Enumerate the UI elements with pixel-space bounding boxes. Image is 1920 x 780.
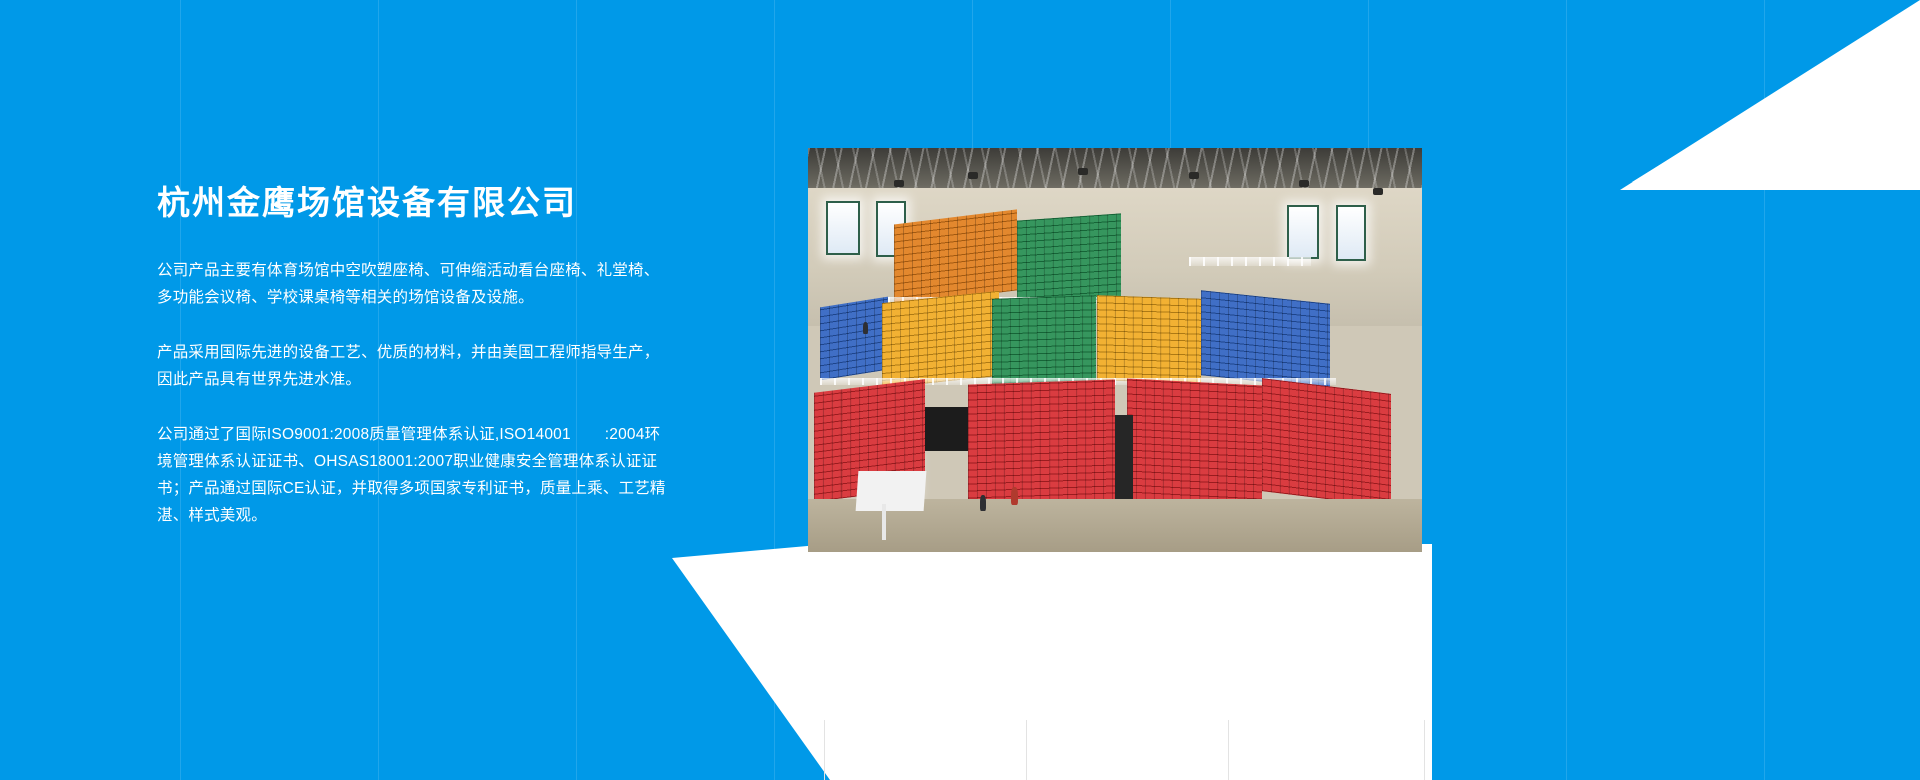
page-title: 杭州金鹰场馆设备有限公司 — [157, 183, 669, 223]
seat-block-red — [968, 380, 1115, 506]
bottom-separator — [1026, 720, 1027, 780]
hoop-support — [882, 504, 886, 540]
basketball-hoop — [856, 471, 926, 511]
ceiling-lamp — [1189, 172, 1199, 179]
seat-block-blue — [1201, 291, 1330, 389]
stand-structure — [1115, 415, 1133, 504]
seat-block-red — [1127, 379, 1262, 507]
seat-block-green — [992, 296, 1096, 384]
ceiling-lamp — [1299, 180, 1309, 187]
hero-banner: 杭州金鹰场馆设备有限公司 公司产品主要有体育场馆中空吹塑座椅、可伸缩活动看台座椅… — [0, 0, 1920, 780]
person — [980, 495, 986, 511]
gymnasium-photo — [808, 148, 1422, 552]
window — [1336, 205, 1366, 261]
intro-paragraph-products: 公司产品主要有体育场馆中空吹塑座椅、可伸缩活动看台座椅、礼堂椅、多功能会议椅、学… — [157, 257, 669, 311]
ceiling-lamp — [1373, 188, 1383, 195]
bottom-separator — [1228, 720, 1229, 780]
window — [1287, 205, 1319, 259]
bottom-separator — [1424, 720, 1425, 780]
bottom-separator — [824, 720, 825, 780]
ceiling-lamp — [968, 172, 978, 179]
intro-paragraph-quality: 产品采用国际先进的设备工艺、优质的材料，并由美国工程师指导生产，因此产品具有世界… — [157, 339, 669, 393]
certification-rest: 管理体系认证证书、OHSAS18001:2007职业健康安全管理体系认证证书；产… — [157, 453, 666, 524]
person — [1011, 487, 1018, 505]
seat-block-red — [1262, 378, 1391, 507]
seat-block-blue — [820, 296, 888, 379]
intro-paragraph-certification: 公司通过了国际ISO9001:2008质量管理体系认证,ISO14001:200… — [157, 421, 669, 529]
person — [863, 322, 868, 334]
balcony-railing — [1189, 257, 1312, 266]
scoreboard-box — [925, 407, 968, 451]
seat-block-green — [1017, 213, 1121, 305]
seat-block-yellow — [882, 291, 999, 388]
ceiling-lamp — [1078, 168, 1088, 175]
hero-text-column: 杭州金鹰场馆设备有限公司 公司产品主要有体育场馆中空吹塑座椅、可伸缩活动看台座椅… — [157, 183, 669, 529]
certification-line-1a: 公司通过了国际ISO9001:2008质量管理体系认证,ISO14001 — [157, 426, 571, 443]
grid-line — [1566, 0, 1567, 780]
seat-block-yellow — [1097, 296, 1201, 384]
photo-image — [808, 148, 1422, 552]
ceiling-lamp — [894, 180, 904, 187]
window — [826, 201, 860, 255]
